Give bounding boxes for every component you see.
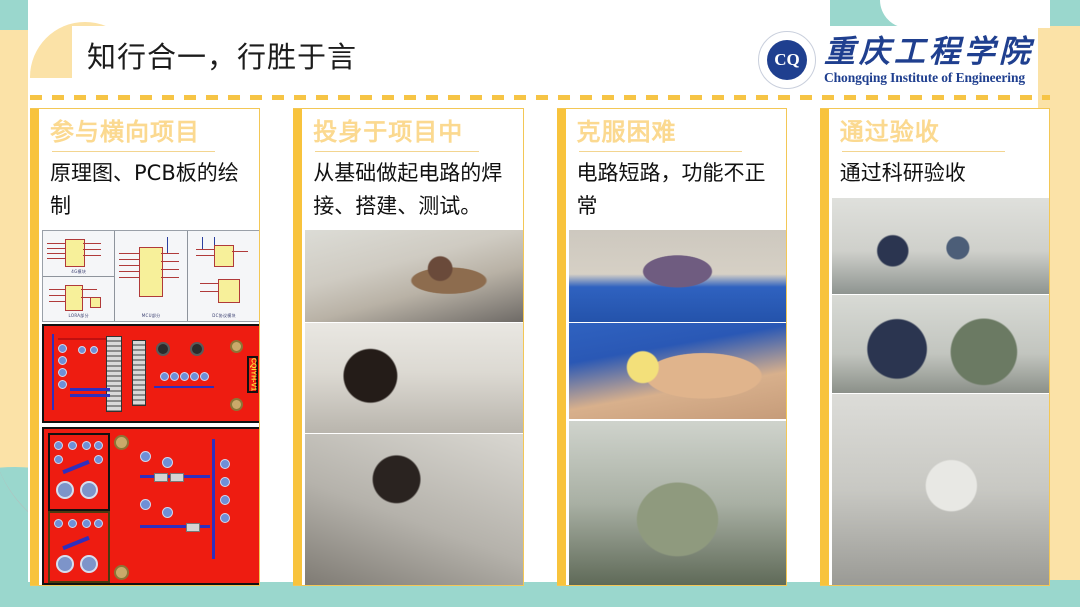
card-description: 原理图、PCB板的绘制: [50, 157, 249, 222]
card-description: 从基础做起电路的焊接、搭建、测试。: [313, 157, 512, 222]
card-accent-bar: [820, 109, 829, 585]
header-dashed-divider: [30, 95, 1050, 100]
logo-english-name: Chongqing Institute of Engineering: [824, 71, 1025, 85]
image-breadboard-array: [569, 421, 786, 585]
slide-root: 知行合一，行胜于言 CQ 重庆工程学院 Chongqing Institute …: [0, 0, 1080, 607]
image-schematic-sheet: 4G模块 LORA部分: [42, 230, 259, 322]
cards-row: 参与横向项目 原理图、PCB板的绘制: [30, 108, 1050, 586]
card-body: 克服困难 电路短路，功能不正常: [557, 109, 786, 222]
card-heading: 通过验收: [840, 117, 1039, 148]
card-description: 电路短路，功能不正常: [577, 157, 776, 222]
schematic-label-3: MCU部分: [115, 313, 186, 319]
content-card-3: 克服困难 电路短路，功能不正常: [557, 108, 787, 586]
card-media-stack: [820, 198, 1049, 585]
card-heading-underline: [579, 151, 742, 152]
card-heading: 投身于项目中: [313, 117, 512, 148]
card-media-stack: [557, 230, 786, 585]
schematic-cell-center: MCU部分: [115, 231, 187, 321]
card-heading-underline: [52, 151, 215, 152]
image-led-hand-test: [569, 323, 786, 419]
card-heading-underline: [842, 151, 1005, 152]
image-student-soldering: [305, 230, 522, 322]
card-accent-bar: [30, 109, 39, 585]
card-accent-bar: [557, 109, 566, 585]
university-logo: CQ 重庆工程学院 Chongqing Institute of Enginee…: [758, 31, 1034, 89]
pcb-silkscreen-label: CQIYH-V1: [247, 356, 258, 393]
image-lab-fixture: [569, 230, 786, 322]
card-heading: 参与横向项目: [50, 117, 249, 148]
card-media-stack: [293, 230, 522, 585]
content-card-4: 通过验收 通过科研验收: [820, 108, 1050, 586]
page-title: 知行合一，行胜于言: [87, 34, 357, 76]
card-media-stack: 4G模块 LORA部分: [30, 230, 259, 585]
image-pcb-layout-top: CQIYH-V1: [42, 324, 259, 423]
card-body: 通过验收 通过科研验收: [820, 109, 1049, 190]
card-body: 参与横向项目 原理图、PCB板的绘制: [30, 109, 259, 222]
decoration-white-notch-top-right: [880, 0, 1050, 28]
logo-seal-icon: CQ: [758, 31, 816, 89]
logo-chinese-name: 重庆工程学院: [824, 36, 1034, 67]
content-card-2: 投身于项目中 从基础做起电路的焊接、搭建、测试。: [293, 108, 523, 586]
schematic-label-1: 4G模块: [43, 269, 114, 275]
card-accent-bar: [293, 109, 302, 585]
card-description: 通过科研验收: [840, 157, 1039, 190]
image-student-workbench: [305, 434, 522, 585]
card-heading-underline: [315, 151, 478, 152]
image-device-demo: [832, 295, 1049, 393]
card-heading: 克服困难: [577, 117, 776, 148]
image-student-testing-board: [305, 323, 522, 433]
schematic-cell-left: 4G模块 LORA部分: [43, 231, 115, 321]
schematic-label-4: DC协议模块: [188, 313, 259, 319]
schematic-label-2: LORA部分: [43, 313, 114, 319]
card-body: 投身于项目中 从基础做起电路的焊接、搭建、测试。: [293, 109, 522, 222]
slide-header: 知行合一，行胜于言 CQ 重庆工程学院 Chongqing Institute …: [72, 26, 1038, 88]
schematic-cell-right: DC协议模块: [188, 231, 259, 321]
content-card-1: 参与横向项目 原理图、PCB板的绘制: [30, 108, 260, 586]
logo-seal-mark: CQ: [767, 40, 807, 80]
image-lab-room: [832, 394, 1049, 585]
logo-text-block: 重庆工程学院 Chongqing Institute of Engineerin…: [824, 36, 1034, 85]
image-pcb-layout-bottom: [42, 427, 259, 585]
image-review-meeting: [832, 198, 1049, 294]
